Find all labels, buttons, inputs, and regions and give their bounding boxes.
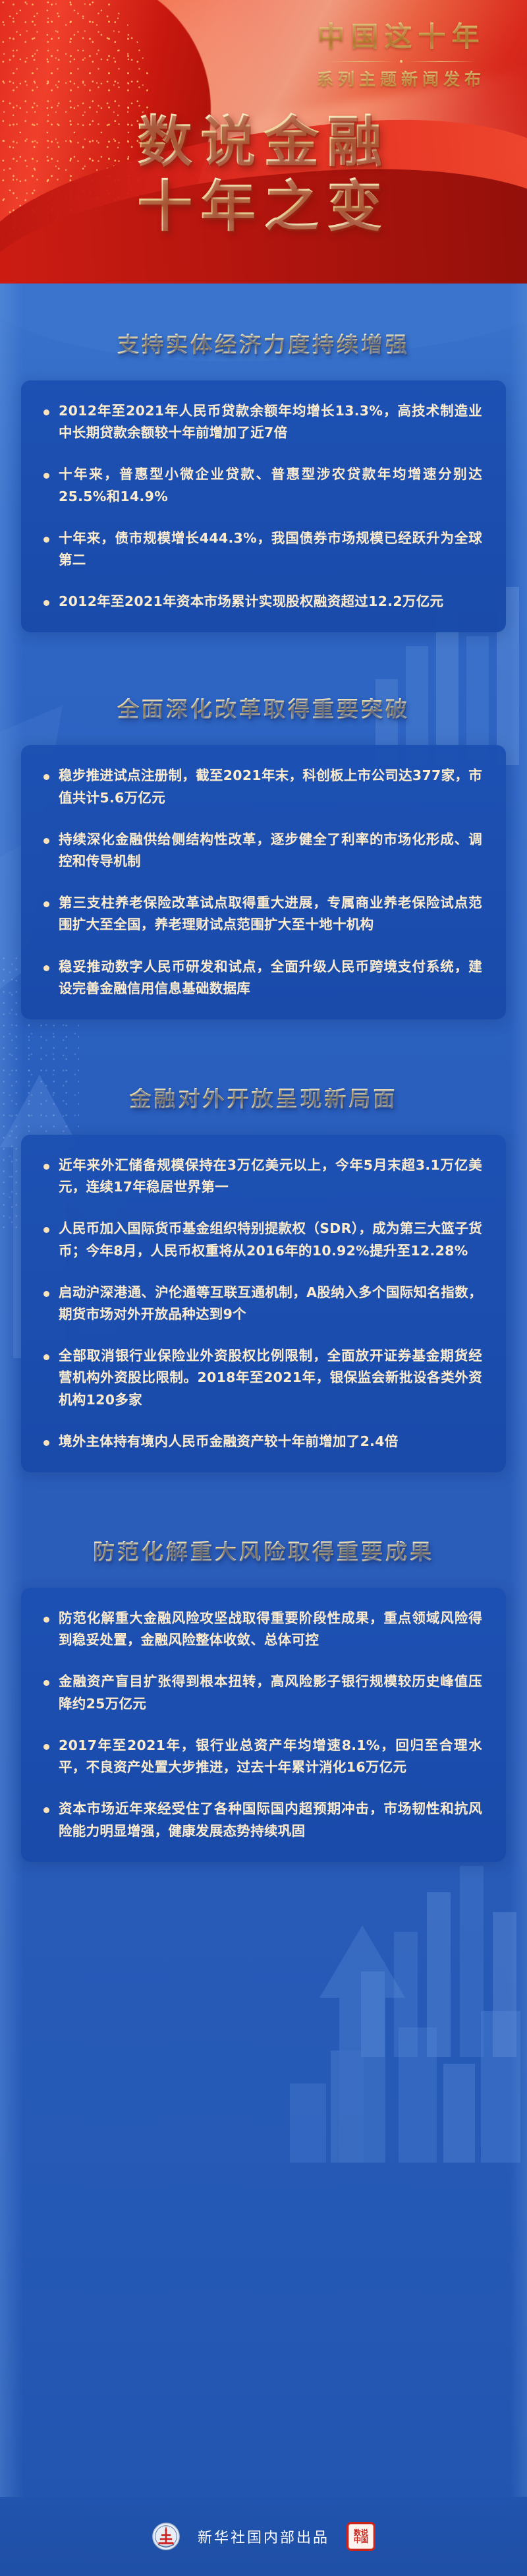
section-title-1: 支持实体经济力度持续增强 [0, 334, 527, 355]
bullet-text: 金融资产盲目扩张得到根本扭转，高风险影子银行规模较历史峰值压降约25万亿元 [59, 1671, 482, 1714]
section-card-1: 2012年至2021年人民币贷款余额年均增长13.3%，高技术制造业中长期贷款余… [21, 380, 506, 632]
section-card-2: 稳步推进试点注册制，截至2021年末，科创板上市公司达377家，市值共计5.6万… [21, 745, 506, 1019]
bullet-dot-icon [43, 1807, 49, 1813]
bullet-list-2: 稳步推进试点注册制，截至2021年末，科创板上市公司达377家，市值共计5.6万… [43, 765, 482, 1000]
bullet-text: 全部取消银行业保险业外资股权比例限制，全面放开证券基金期货经营机构外资股比限制。… [59, 1345, 482, 1411]
poster-header: 中国这十年 系列主题新闻发布 数说金融 十年之变 [0, 0, 527, 307]
bullet-text: 境外主体持有境内人民币金融资产较十年前增加了2.4倍 [59, 1431, 482, 1453]
divider-line-left [326, 61, 395, 62]
bullet-text: 稳步推进试点注册制，截至2021年末，科创板上市公司达377家，市值共计5.6万… [59, 765, 482, 808]
bullet-text: 2012年至2021年资本市场累计实现股权融资超过12.2万亿元 [59, 591, 482, 613]
section-support-real-economy: 支持实体经济力度持续增强 2012年至2021年人民币贷款余额年均增长13.3%… [0, 284, 527, 632]
section-title-4: 防范化解重大风险取得重要成果 [0, 1541, 527, 1563]
bullet-text: 2017年至2021年，银行业总资产年均增速8.1%，回归至合理水平，不良资产处… [59, 1735, 482, 1778]
bullet-text: 防范化解重大金融风险攻坚战取得重要阶段性成果，重点领域风险得到稳妥处置，金融风险… [59, 1607, 482, 1651]
list-item: 稳妥推动数字人民币研发和试点，全面升级人民币跨境支付系统，建设完善金融信用信息基… [43, 956, 482, 1000]
footer-producer-text: 新华社国内部出品 [198, 2526, 329, 2547]
list-item: 境外主体持有境内人民币金融资产较十年前增加了2.4倍 [43, 1431, 482, 1453]
bullet-dot-icon [43, 774, 49, 780]
bullet-text: 十年来，债市规模增长444.3%，我国债券市场规模已经跃升为全球第二 [59, 527, 482, 571]
seal-stamp: 数说 中国 [347, 2522, 375, 2551]
sections-container: 支持实体经济力度持续增强 2012年至2021年人民币贷款余额年均增长13.3%… [0, 284, 527, 1902]
bullet-list-4: 防范化解重大金融风险攻坚战取得重要阶段性成果，重点领域风险得到稳妥处置，金融风险… [43, 1607, 482, 1842]
list-item: 十年来，普惠型小微企业贷款、普惠型涉农贷款年均增速分别达25.5%和14.9% [43, 464, 482, 507]
poster-footer: 新华社国内部出品 数说 中国 [0, 2497, 527, 2576]
section-deepen-reform: 全面深化改革取得重要突破 稳步推进试点注册制，截至2021年末，科创板上市公司达… [0, 632, 527, 1019]
bullet-text: 资本市场近年来经受住了各种国际国内超预期冲击，市场韧性和抗风险能力明显增强，健康… [59, 1798, 482, 1842]
list-item: 稳步推进试点注册制，截至2021年末，科创板上市公司达377家，市值共计5.6万… [43, 765, 482, 808]
bullet-dot-icon [43, 965, 49, 971]
list-item: 近年来外汇储备规模保持在3万亿美元以上，今年5月末超3.1万亿美元，连续17年稳… [43, 1154, 482, 1198]
section-risk-prevention: 防范化解重大风险取得重要成果 防范化解重大金融风险攻坚战取得重要阶段性成果，重点… [0, 1472, 527, 1902]
main-title-line-1: 数说金融 [0, 111, 527, 173]
list-item: 金融资产盲目扩张得到根本扭转，高风险影子银行规模较历史峰值压降约25万亿元 [43, 1671, 482, 1714]
series-title: 中国这十年 [299, 15, 503, 55]
section-card-3: 近年来外汇储备规模保持在3万亿美元以上，今年5月末超3.1万亿美元，连续17年稳… [21, 1135, 506, 1472]
bullet-dot-icon [43, 600, 49, 606]
list-item: 启动沪深港通、沪伦通等互联互通机制，A股纳入多个国际知名指数，期货市场对外开放品… [43, 1282, 482, 1325]
bullet-dot-icon [43, 901, 49, 907]
bullet-text: 启动沪深港通、沪伦通等互联互通机制，A股纳入多个国际知名指数，期货市场对外开放品… [59, 1282, 482, 1325]
list-item: 人民币加入国际货币基金组织特别提款权（SDR），成为第三大篮子货币；今年8月，人… [43, 1218, 482, 1261]
list-item: 2012年至2021年资本市场累计实现股权融资超过12.2万亿元 [43, 591, 482, 613]
bullet-dot-icon [43, 1617, 49, 1623]
seal-line-2: 中国 [354, 2536, 368, 2544]
list-item: 2017年至2021年，银行业总资产年均增速8.1%，回归至合理水平，不良资产处… [43, 1735, 482, 1778]
bullet-dot-icon [43, 473, 49, 479]
list-item: 第三支柱养老保险改革试点取得重大进展，专属商业养老保险试点范围扩大至全国，养老理… [43, 892, 482, 936]
list-item: 防范化解重大金融风险攻坚战取得重要阶段性成果，重点领域风险得到稳妥处置，金融风险… [43, 1607, 482, 1651]
bullet-dot-icon [43, 1227, 49, 1233]
list-item: 资本市场近年来经受住了各种国际国内超预期冲击，市场韧性和抗风险能力明显增强，健康… [43, 1798, 482, 1842]
bullet-dot-icon [43, 1680, 49, 1686]
section-financial-opening: 金融对外开放呈现新局面 近年来外汇储备规模保持在3万亿美元以上，今年5月末超3.… [0, 1019, 527, 1472]
divider-line-right [407, 61, 476, 62]
bullet-text: 人民币加入国际货币基金组织特别提款权（SDR），成为第三大篮子货币；今年8月，人… [59, 1218, 482, 1261]
bullet-text: 近年来外汇储备规模保持在3万亿美元以上，今年5月末超3.1万亿美元，连续17年稳… [59, 1154, 482, 1198]
bullet-text: 稳妥推动数字人民币研发和试点，全面升级人民币跨境支付系统，建设完善金融信用信息基… [59, 956, 482, 1000]
bullet-dot-icon [43, 1440, 49, 1446]
bullet-list-1: 2012年至2021年人民币贷款余额年均增长13.3%，高技术制造业中长期贷款余… [43, 400, 482, 613]
section-title-3: 金融对外开放呈现新局面 [0, 1088, 527, 1110]
infographic-poster: 中国这十年 系列主题新闻发布 数说金融 十年之变 [0, 0, 527, 2576]
bullet-dot-icon [43, 537, 49, 543]
page-title: 数说金融 十年之变 [0, 111, 527, 237]
series-subtitle: 系列主题新闻发布 [299, 67, 503, 90]
bullet-text: 十年来，普惠型小微企业贷款、普惠型涉农贷款年均增速分别达25.5%和14.9% [59, 464, 482, 507]
list-item: 十年来，债市规模增长444.3%，我国债券市场规模已经跃升为全球第二 [43, 527, 482, 571]
list-item: 持续深化金融供给侧结构性改革，逐步健全了利率的市场化形成、调控和传导机制 [43, 829, 482, 872]
city-skyline-decoration-icon [283, 1886, 527, 2163]
series-divider [299, 60, 503, 63]
series-lockup: 中国这十年 系列主题新闻发布 [299, 15, 503, 90]
list-item: 2012年至2021年人民币贷款余额年均增长13.3%，高技术制造业中长期贷款余… [43, 400, 482, 444]
section-card-4: 防范化解重大金融风险攻坚战取得重要阶段性成果，重点领域风险得到稳妥处置，金融风险… [21, 1588, 506, 1862]
bullet-dot-icon [43, 1164, 49, 1170]
list-item: 全部取消银行业保险业外资股权比例限制，全面放开证券基金期货经营机构外资股比限制。… [43, 1345, 482, 1411]
main-title-line-2: 十年之变 [0, 175, 527, 237]
bullet-text: 2012年至2021年人民币贷款余额年均增长13.3%，高技术制造业中长期贷款余… [59, 400, 482, 444]
bullet-list-3: 近年来外汇储备规模保持在3万亿美元以上，今年5月末超3.1万亿美元，连续17年稳… [43, 1154, 482, 1453]
bullet-dot-icon [43, 1744, 49, 1750]
bullet-dot-icon [43, 1291, 49, 1297]
bullet-text: 持续深化金融供给侧结构性改革，逐步健全了利率的市场化形成、调控和传导机制 [59, 829, 482, 872]
bullet-dot-icon [43, 838, 49, 844]
bullet-dot-icon [43, 1354, 49, 1360]
bullet-text: 第三支柱养老保险改革试点取得重大进展，专属商业养老保险试点范围扩大至全国，养老理… [59, 892, 482, 936]
xinhua-logo-icon [152, 2522, 180, 2551]
divider-dot-icon [400, 60, 402, 63]
bullet-dot-icon [43, 409, 49, 415]
section-title-2: 全面深化改革取得重要突破 [0, 698, 527, 720]
